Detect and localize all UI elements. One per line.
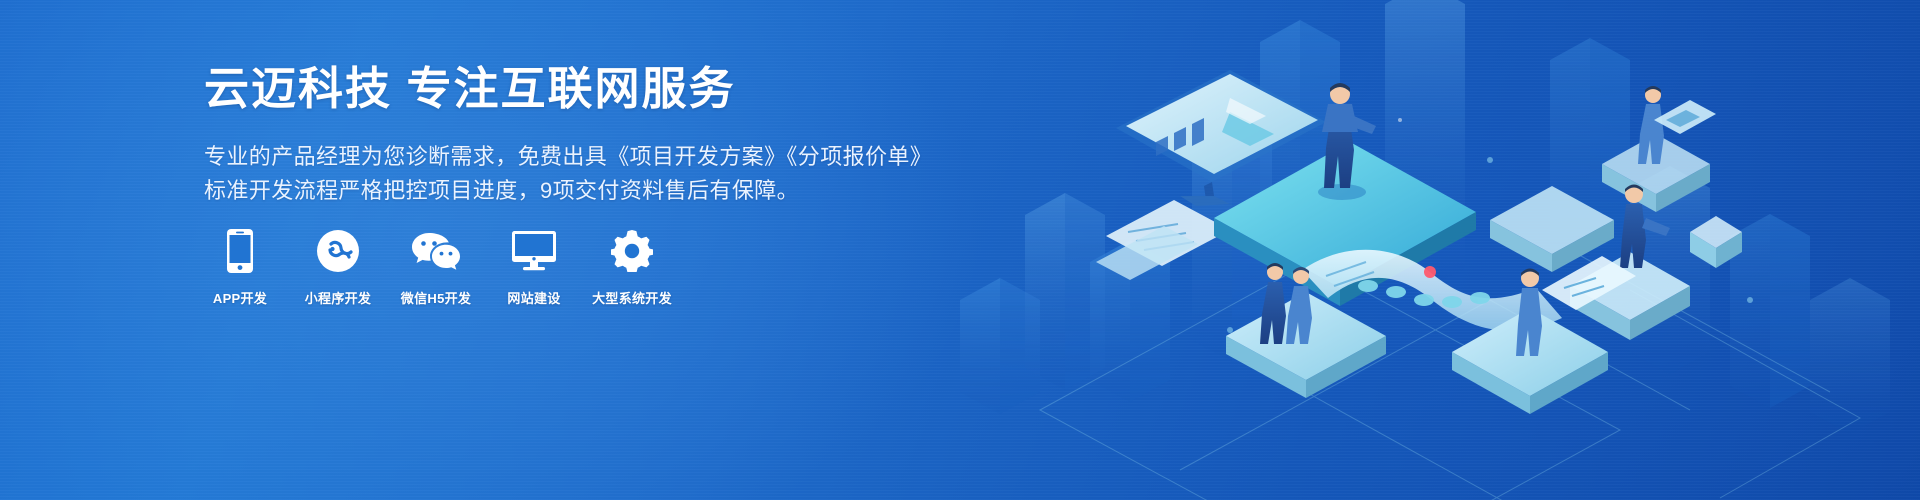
central-podium: [1214, 142, 1476, 306]
hero-banner: 云迈科技 专注互联网服务 专业的产品经理为您诊断需求，免费出具《项目开发方案》《…: [0, 0, 1920, 500]
background-skyline: [960, 0, 1890, 434]
service-label: 微信H5开发: [401, 288, 471, 307]
mobile-phone-icon: [227, 228, 253, 274]
floating-cube-right: [1690, 216, 1742, 268]
service-item-wechat-h5[interactable]: 微信H5开发: [394, 228, 478, 307]
subtitle-line-1: 专业的产品经理为您诊断需求，免费出具《项目开发方案》《分项报价单》: [204, 140, 964, 174]
person-right-upper: [1638, 86, 1664, 164]
iso-floor-grid: [1040, 250, 1860, 500]
podium-right-lower: [1452, 308, 1608, 414]
service-item-website[interactable]: 网站建设: [492, 228, 576, 307]
subtitle-block: 专业的产品经理为您诊断需求，免费出具《项目开发方案》《分项报价单》 标准开发流程…: [204, 140, 964, 208]
person-presenter: [1318, 83, 1376, 200]
person-pair-left: [1260, 263, 1312, 344]
mini-program-icon: [317, 228, 359, 274]
page-title: 云迈科技 专注互联网服务: [204, 64, 964, 114]
ribbon-cards: [1358, 266, 1490, 308]
podium-left-lower: [1226, 292, 1386, 398]
person-right-mid: [1620, 185, 1670, 269]
isometric-illustration: [930, 0, 1920, 500]
dashboard-monitor: [1116, 70, 1326, 206]
service-label: APP开发: [213, 288, 267, 307]
service-label: 网站建设: [507, 288, 560, 307]
data-ribbon: [1302, 250, 1562, 331]
service-item-miniprogram[interactable]: 小程序开发: [296, 228, 380, 307]
subtitle-line-2: 标准开发流程严格把控项目进度，9项交付资料售后有保障。: [204, 174, 964, 208]
service-item-large-system[interactable]: 大型系统开发: [590, 228, 674, 307]
floating-panel-mid: [1542, 256, 1636, 310]
stepped-blocks-right: [1490, 134, 1710, 340]
document-stack: [1096, 200, 1230, 280]
floating-badge-top-right: [1654, 100, 1716, 134]
service-label: 小程序开发: [305, 288, 372, 307]
service-item-app[interactable]: APP开发: [198, 228, 282, 307]
service-label: 大型系统开发: [592, 288, 672, 307]
glow-accents: [1227, 118, 1753, 333]
hero-text-block: 云迈科技 专注互联网服务 专业的产品经理为您诊断需求，免费出具《项目开发方案》《…: [204, 64, 964, 208]
service-icon-row: APP开发 小程序开发: [198, 228, 674, 307]
monitor-icon: [512, 228, 556, 274]
wechat-icon: [412, 228, 460, 274]
gear-icon: [611, 228, 653, 274]
person-right-lower: [1516, 269, 1542, 357]
